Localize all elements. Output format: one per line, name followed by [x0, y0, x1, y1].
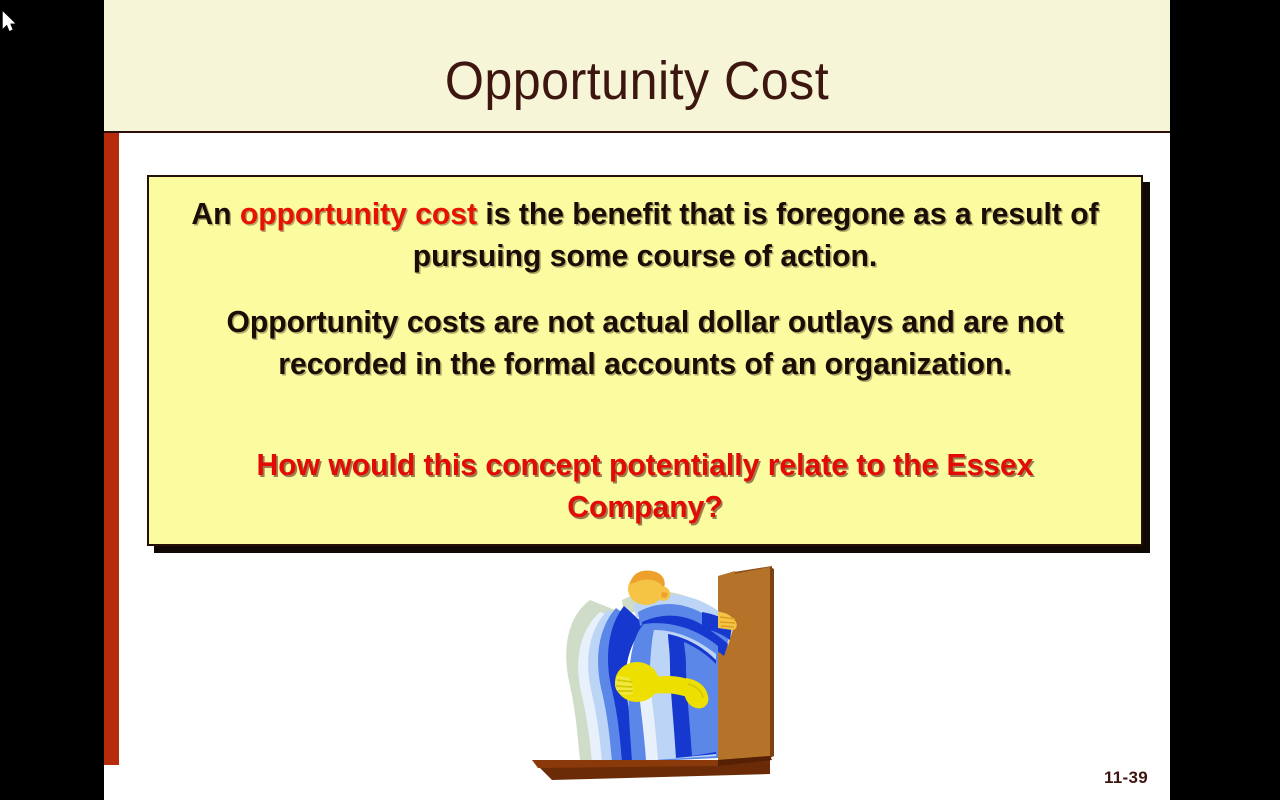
page-title: Opportunity Cost [141, 54, 1132, 108]
discussion-question: How would this concept potentially relat… [179, 444, 1110, 528]
definition-paragraph: An opportunity cost is the benefit that … [179, 193, 1110, 277]
person-opening-door-icon [522, 560, 794, 785]
slide-title-band: Opportunity Cost [104, 0, 1170, 133]
definition-highlight-term: opportunity cost [240, 196, 477, 231]
explanation-paragraph: Opportunity costs are not actual dollar … [179, 301, 1110, 385]
presentation-slide: Opportunity Cost An opportunity cost is … [104, 0, 1170, 800]
slide-page-number: 11-39 [1104, 768, 1148, 788]
left-accent-bar [104, 133, 119, 765]
definition-lead: An [191, 196, 239, 231]
content-callout-box: An opportunity cost is the benefit that … [147, 175, 1143, 546]
definition-tail: is the benefit that is foregone as a res… [413, 196, 1099, 273]
mouse-pointer-icon [2, 11, 16, 33]
screen-viewport: Opportunity Cost An opportunity cost is … [0, 0, 1280, 800]
